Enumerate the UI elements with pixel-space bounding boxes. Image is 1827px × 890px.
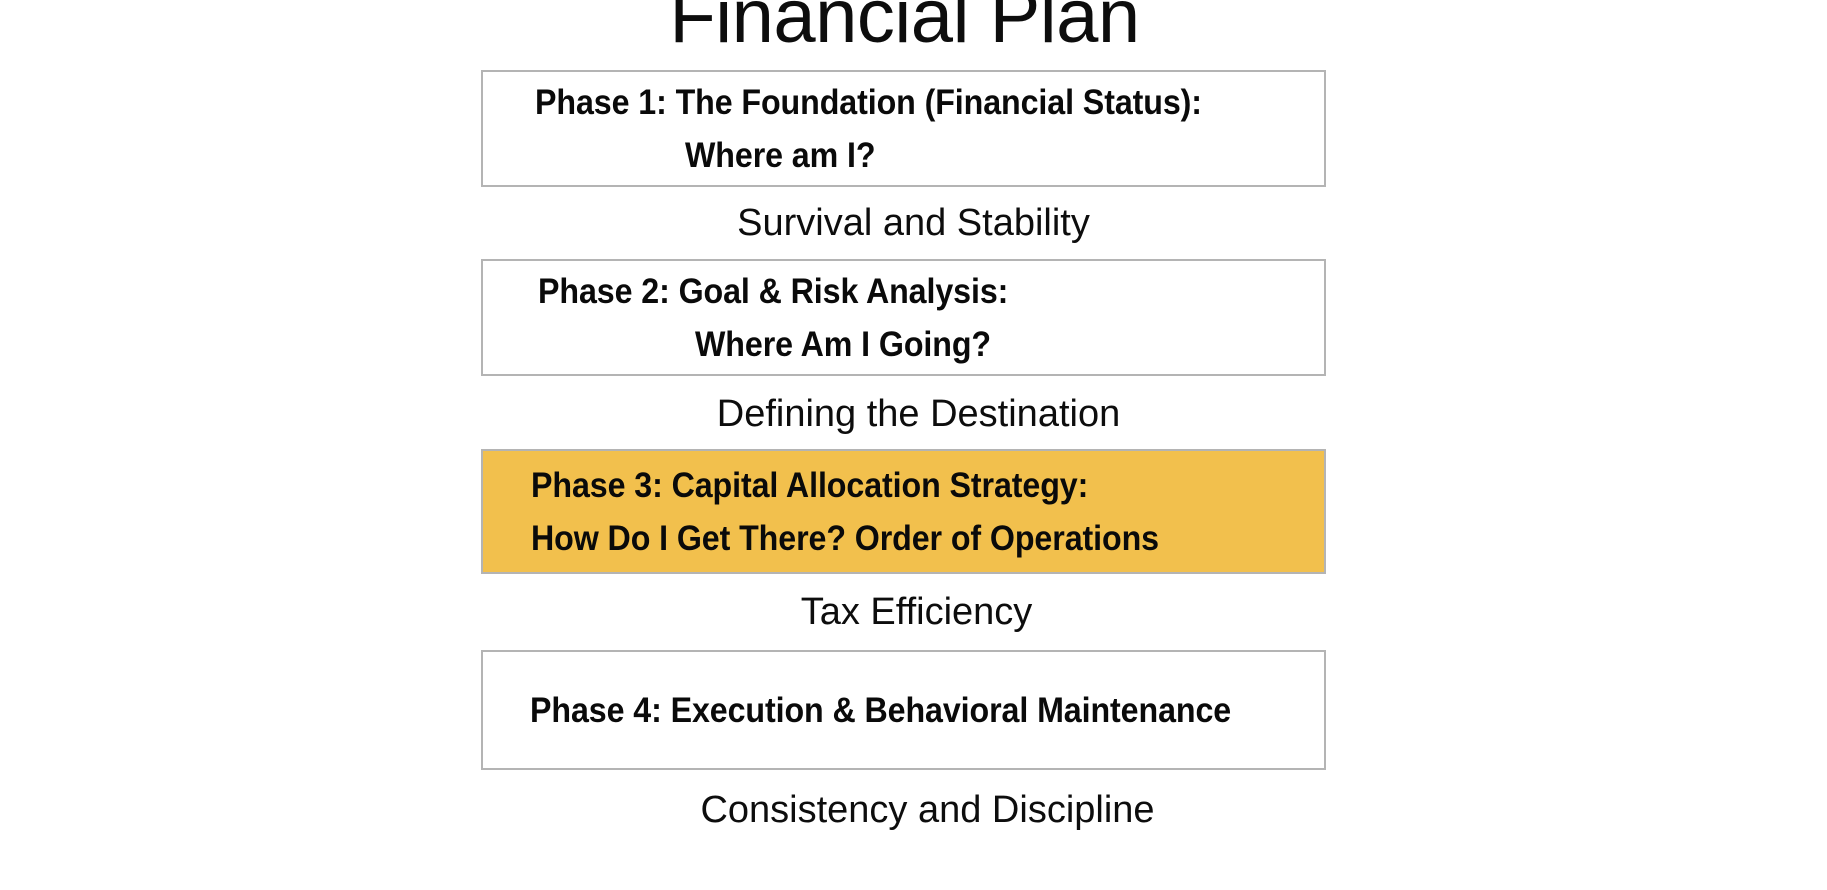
phase-1-line-1: Phase 1: The Foundation (Financial Statu… — [535, 76, 1261, 129]
phase-box-3[interactable]: Phase 3: Capital Allocation Strategy: Ho… — [481, 449, 1326, 574]
phase-4-line-1: Phase 4: Execution & Behavioral Maintena… — [530, 684, 1260, 737]
phase-3-caption: Tax Efficiency — [481, 586, 1326, 638]
page-title: Financial Plan — [0, 0, 1818, 61]
phase-flow: Phase 1: The Foundation (Financial Statu… — [481, 70, 1326, 836]
phase-box-2[interactable]: Phase 2: Goal & Risk Analysis: Where Am … — [481, 259, 1326, 376]
phase-box-1[interactable]: Phase 1: The Foundation (Financial Statu… — [481, 70, 1326, 187]
phase-box-4[interactable]: Phase 4: Execution & Behavioral Maintena… — [481, 650, 1326, 770]
phase-2-line-2: Where Am I Going? — [695, 318, 1274, 371]
phase-3-line-1: Phase 3: Capital Allocation Strategy: — [531, 459, 1261, 512]
phase-1-caption: Survival and Stability — [481, 197, 1326, 249]
slide-canvas: Financial Plan Phase 1: The Foundation (… — [0, 0, 1827, 890]
phase-2-line-1: Phase 2: Goal & Risk Analysis: — [538, 265, 1261, 318]
phase-3-line-2: How Do I Get There? Order of Operations — [531, 512, 1261, 565]
phase-1-line-2: Where am I? — [685, 129, 1273, 182]
phase-4-caption: Consistency and Discipline — [481, 784, 1326, 836]
phase-2-caption: Defining the Destination — [481, 388, 1326, 440]
